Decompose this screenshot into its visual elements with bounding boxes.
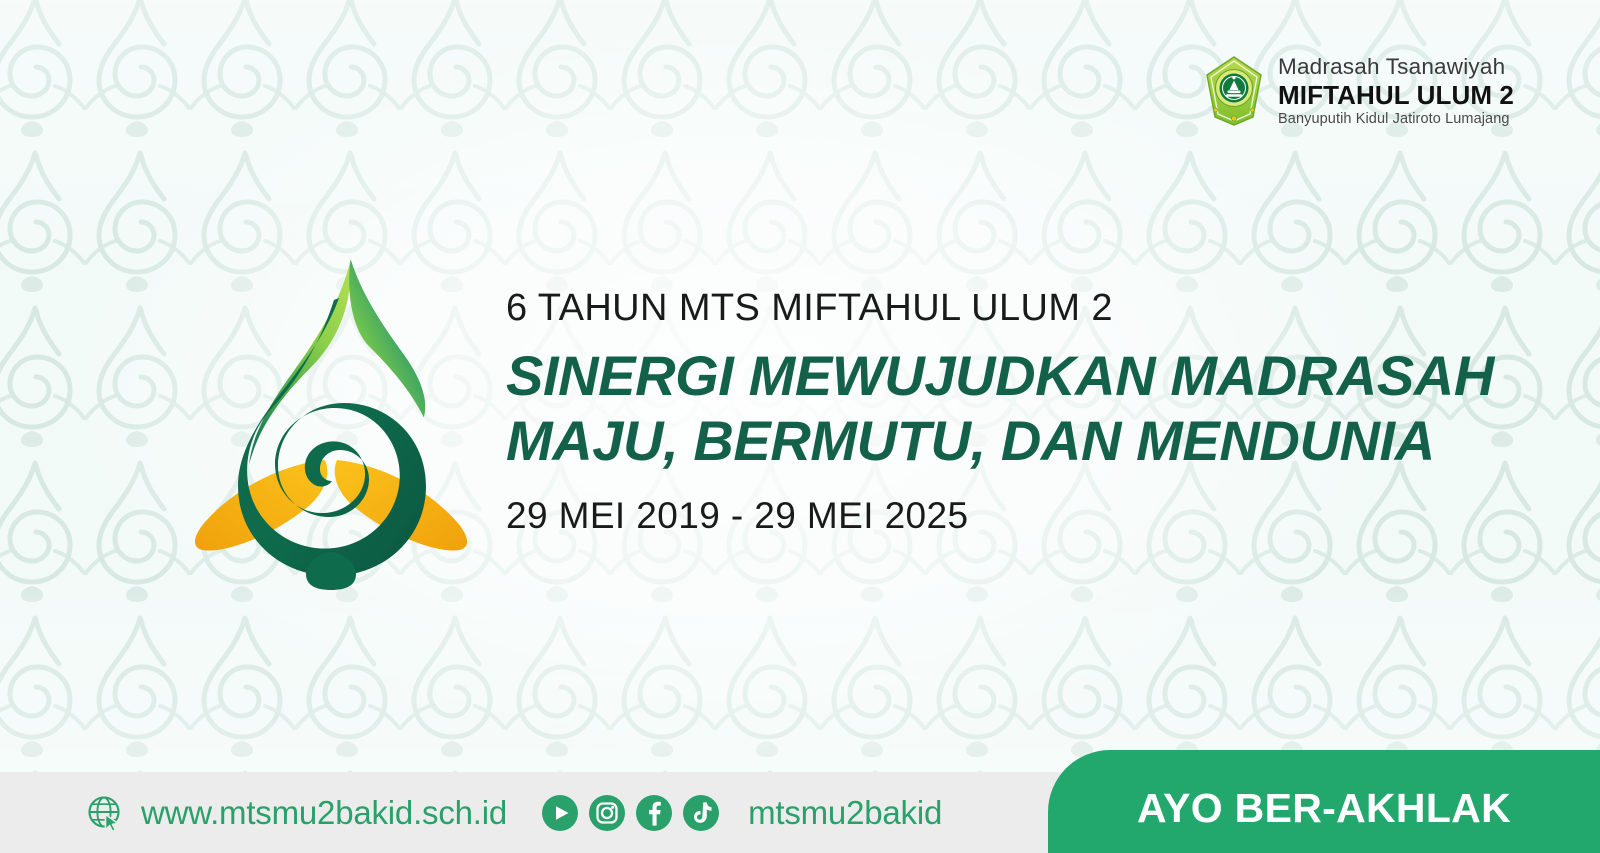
- date-range: 29 MEI 2019 - 29 MEI 2025: [506, 496, 1466, 535]
- footer-contact-group: www.mtsmu2bakid.sch.id: [0, 772, 942, 853]
- madrasah-crest-icon: [1204, 55, 1264, 127]
- institution-address: Banyuputih Kidul Jatiroto Lumajang: [1278, 112, 1514, 127]
- tiktok-icon[interactable]: [682, 794, 720, 832]
- website-url[interactable]: www.mtsmu2bakid.sch.id: [141, 794, 507, 832]
- headline-line-2: MAJU, BERMUTU, DAN MENDUNIA: [506, 409, 1466, 474]
- youtube-icon[interactable]: [541, 794, 579, 832]
- institution-name-block: Madrasah Tsanawiyah MIFTAHUL ULUM 2 Bany…: [1278, 56, 1514, 126]
- hero-text-block: 6 TAHUN MTS MIFTAHUL ULUM 2 SINERGI MEWU…: [506, 288, 1466, 535]
- anniversary-eyebrow: 6 TAHUN MTS MIFTAHUL ULUM 2: [506, 288, 1466, 328]
- anniversary-six-logo-icon: [176, 238, 486, 590]
- cta-banner[interactable]: AYO BER-AKHLAK: [1048, 750, 1600, 853]
- social-icon-row: [541, 794, 720, 832]
- headline-line-1: SINERGI MEWUJUDKAN MADRASAH: [506, 344, 1466, 409]
- institution-type: Madrasah Tsanawiyah: [1278, 56, 1514, 79]
- footer-bar: www.mtsmu2bakid.sch.id: [0, 772, 1600, 853]
- anniversary-banner: Madrasah Tsanawiyah MIFTAHUL ULUM 2 Bany…: [0, 0, 1600, 853]
- institution-lockup: Madrasah Tsanawiyah MIFTAHUL ULUM 2 Bany…: [1204, 55, 1514, 127]
- instagram-icon[interactable]: [588, 794, 626, 832]
- social-handle[interactable]: mtsmu2bakid: [748, 794, 942, 832]
- institution-name: MIFTAHUL ULUM 2: [1278, 82, 1514, 108]
- globe-cursor-icon: [85, 793, 125, 833]
- facebook-icon[interactable]: [635, 794, 673, 832]
- cta-label: AYO BER-AKHLAK: [1137, 771, 1511, 832]
